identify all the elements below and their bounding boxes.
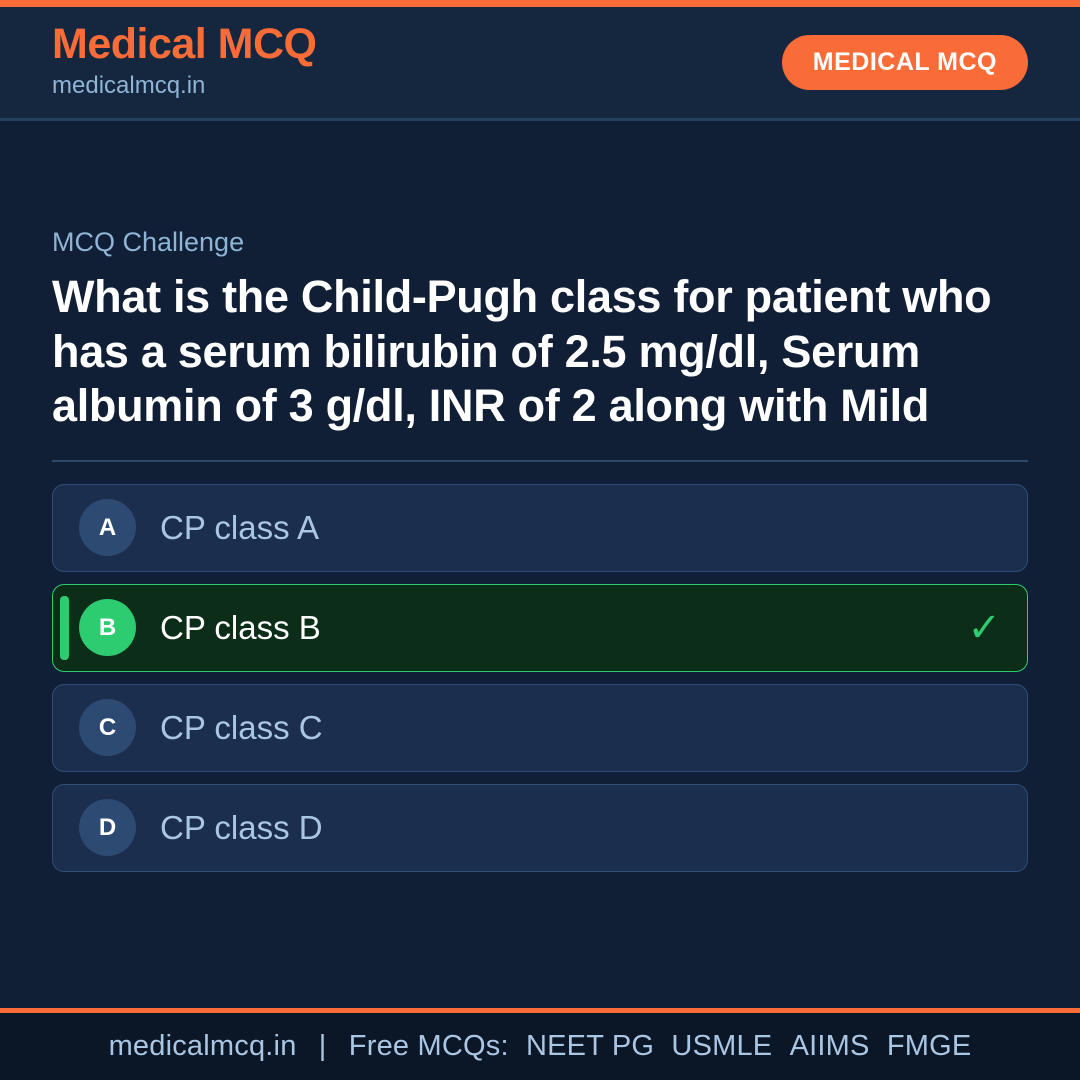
- option-letter-badge: C: [79, 699, 136, 756]
- brand-subtitle: medicalmcq.in: [52, 70, 317, 102]
- option-letter-badge: B: [79, 599, 136, 656]
- check-icon: ✓: [967, 608, 1001, 648]
- question-divider: [52, 460, 1028, 462]
- footer-exam-neet-pg[interactable]: NEET PG: [517, 1030, 654, 1062]
- footer-exam-usmle[interactable]: USMLE: [662, 1030, 772, 1062]
- footer-separator: |: [305, 1030, 341, 1062]
- footer-site[interactable]: medicalmcq.in: [109, 1030, 297, 1062]
- correct-accent-bar: [60, 596, 69, 660]
- section-kicker: MCQ Challenge: [52, 226, 1028, 258]
- option-a[interactable]: A CP class A: [52, 484, 1028, 572]
- question-text: What is the Child-Pugh class for patient…: [52, 270, 1028, 433]
- option-letter-badge: A: [79, 499, 136, 556]
- option-label: CP class C: [160, 711, 323, 744]
- footer-free-label: Free MCQs:: [349, 1030, 509, 1062]
- option-label: CP class A: [160, 511, 319, 544]
- brand-block: Medical MCQ medicalmcq.in: [52, 22, 317, 103]
- page-header: Medical MCQ medicalmcq.in MEDICAL MCQ: [0, 7, 1080, 121]
- question-section: MCQ Challenge What is the Child-Pugh cla…: [0, 121, 1080, 1008]
- footer-exam-aiims[interactable]: AIIMS: [781, 1030, 870, 1062]
- footer-text: medicalmcq.in | Free MCQs: NEET PG USMLE…: [109, 1030, 972, 1063]
- brand-title: Medical MCQ: [52, 22, 317, 67]
- option-label: CP class D: [160, 811, 323, 844]
- option-d[interactable]: D CP class D: [52, 784, 1028, 872]
- option-letter-badge: D: [79, 799, 136, 856]
- footer-exam-fmge[interactable]: FMGE: [878, 1030, 972, 1062]
- option-label: CP class B: [160, 611, 321, 644]
- mcq-card: Medical MCQ medicalmcq.in MEDICAL MCQ MC…: [0, 0, 1080, 1080]
- page-footer: medicalmcq.in | Free MCQs: NEET PG USMLE…: [0, 1008, 1080, 1080]
- options-list: A CP class A B CP class B ✓ C CP class C…: [52, 484, 1028, 872]
- top-accent-rule: [0, 0, 1080, 7]
- option-b[interactable]: B CP class B ✓: [52, 584, 1028, 672]
- option-c[interactable]: C CP class C: [52, 684, 1028, 772]
- brand-badge: MEDICAL MCQ: [782, 35, 1028, 90]
